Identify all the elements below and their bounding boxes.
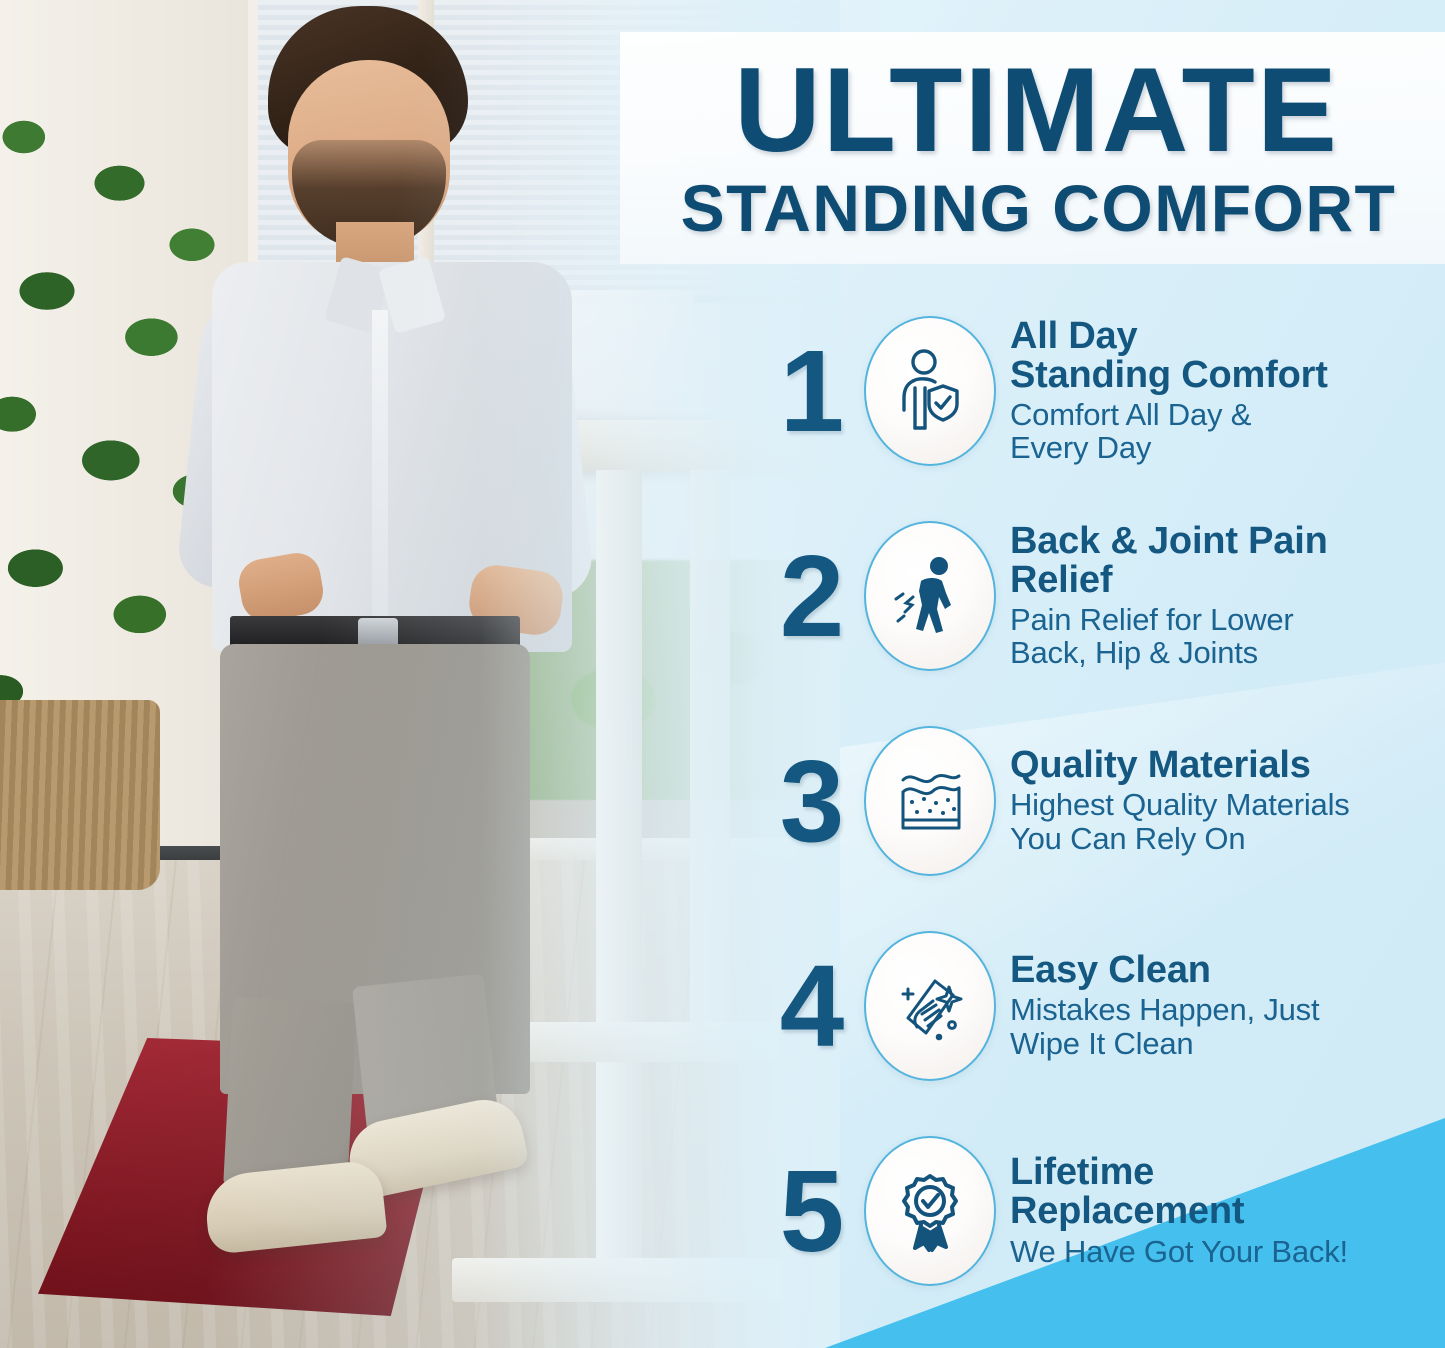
feature-subtitle: Mistakes Happen, Just Wipe It Clean [1010,993,1445,1059]
feature-row: 5 Lifetime Replacement We Have Got Your … [766,1108,1445,1313]
feature-title-line: Standing Comfort [1010,356,1445,395]
feature-list: 1 All Day Standing Comfort [766,288,1445,1313]
feature-text: Easy Clean Mistakes Happen, Just Wipe It… [1010,951,1445,1059]
feature-sub-line: Wipe It Clean [1010,1027,1445,1060]
feature-sub-line: We Have Got Your Back! [1010,1235,1445,1268]
feature-title: All Day Standing Comfort [1010,317,1445,395]
foam-layers-icon [864,726,996,876]
feature-title: Back & Joint Pain Relief [1010,522,1445,600]
feature-number: 5 [766,1153,858,1269]
title-banner: ULTIMATE STANDING COMFORT [620,32,1445,264]
feature-title-line: Easy Clean [1010,951,1445,990]
feature-text: All Day Standing Comfort Comfort All Day… [1010,317,1445,465]
feature-text: Quality Materials Highest Quality Materi… [1010,746,1445,854]
feature-sub-line: Back, Hip & Joints [1010,636,1445,669]
person-shield-icon [864,316,996,466]
feature-number: 3 [766,743,858,859]
feature-title: Quality Materials [1010,746,1445,785]
product-infographic: ULTIMATE STANDING COMFORT 1 All Da [0,0,1445,1348]
feature-row: 4 Easy Clean Mi [766,903,1445,1108]
feature-sub-line: Comfort All Day & [1010,398,1445,431]
back-pain-person-icon [864,521,996,671]
feature-title-line: Back & Joint Pain [1010,522,1445,561]
feature-text: Back & Joint Pain Relief Pain Relief for… [1010,522,1445,670]
award-ribbon-check-icon [864,1136,996,1286]
feature-row: 3 Quality Materials [766,698,1445,903]
feature-number: 2 [766,538,858,654]
feature-sub-line: Mistakes Happen, Just [1010,993,1445,1026]
title-line-1: ULTIMATE [638,53,1445,168]
feature-title-line: All Day [1010,317,1445,356]
feature-text: Lifetime Replacement We Have Got Your Ba… [1010,1153,1445,1267]
feature-subtitle: Pain Relief for Lower Back, Hip & Joints [1010,603,1445,669]
feature-title-line: Relief [1010,561,1445,600]
feature-subtitle: Highest Quality Materials You Can Rely O… [1010,788,1445,854]
feature-title-line: Replacement [1010,1192,1445,1231]
hand-wipe-sparkle-icon [864,931,996,1081]
title-line-2: STANDING COMFORT [638,174,1445,243]
feature-title: Lifetime Replacement [1010,1153,1445,1231]
feature-row: 2 Back & Joint Pain Relief [766,493,1445,698]
feature-subtitle: Comfort All Day & Every Day [1010,398,1445,464]
feature-subtitle: We Have Got Your Back! [1010,1235,1445,1268]
feature-title: Easy Clean [1010,951,1445,990]
feature-number: 1 [766,333,858,449]
feature-row: 1 All Day Standing Comfort [766,288,1445,493]
feature-sub-line: Pain Relief for Lower [1010,603,1445,636]
feature-title-line: Lifetime [1010,1153,1445,1192]
feature-sub-line: You Can Rely On [1010,822,1445,855]
feature-sub-line: Every Day [1010,431,1445,464]
feature-sub-line: Highest Quality Materials [1010,788,1445,821]
feature-number: 4 [766,948,858,1064]
feature-title-line: Quality Materials [1010,746,1445,785]
